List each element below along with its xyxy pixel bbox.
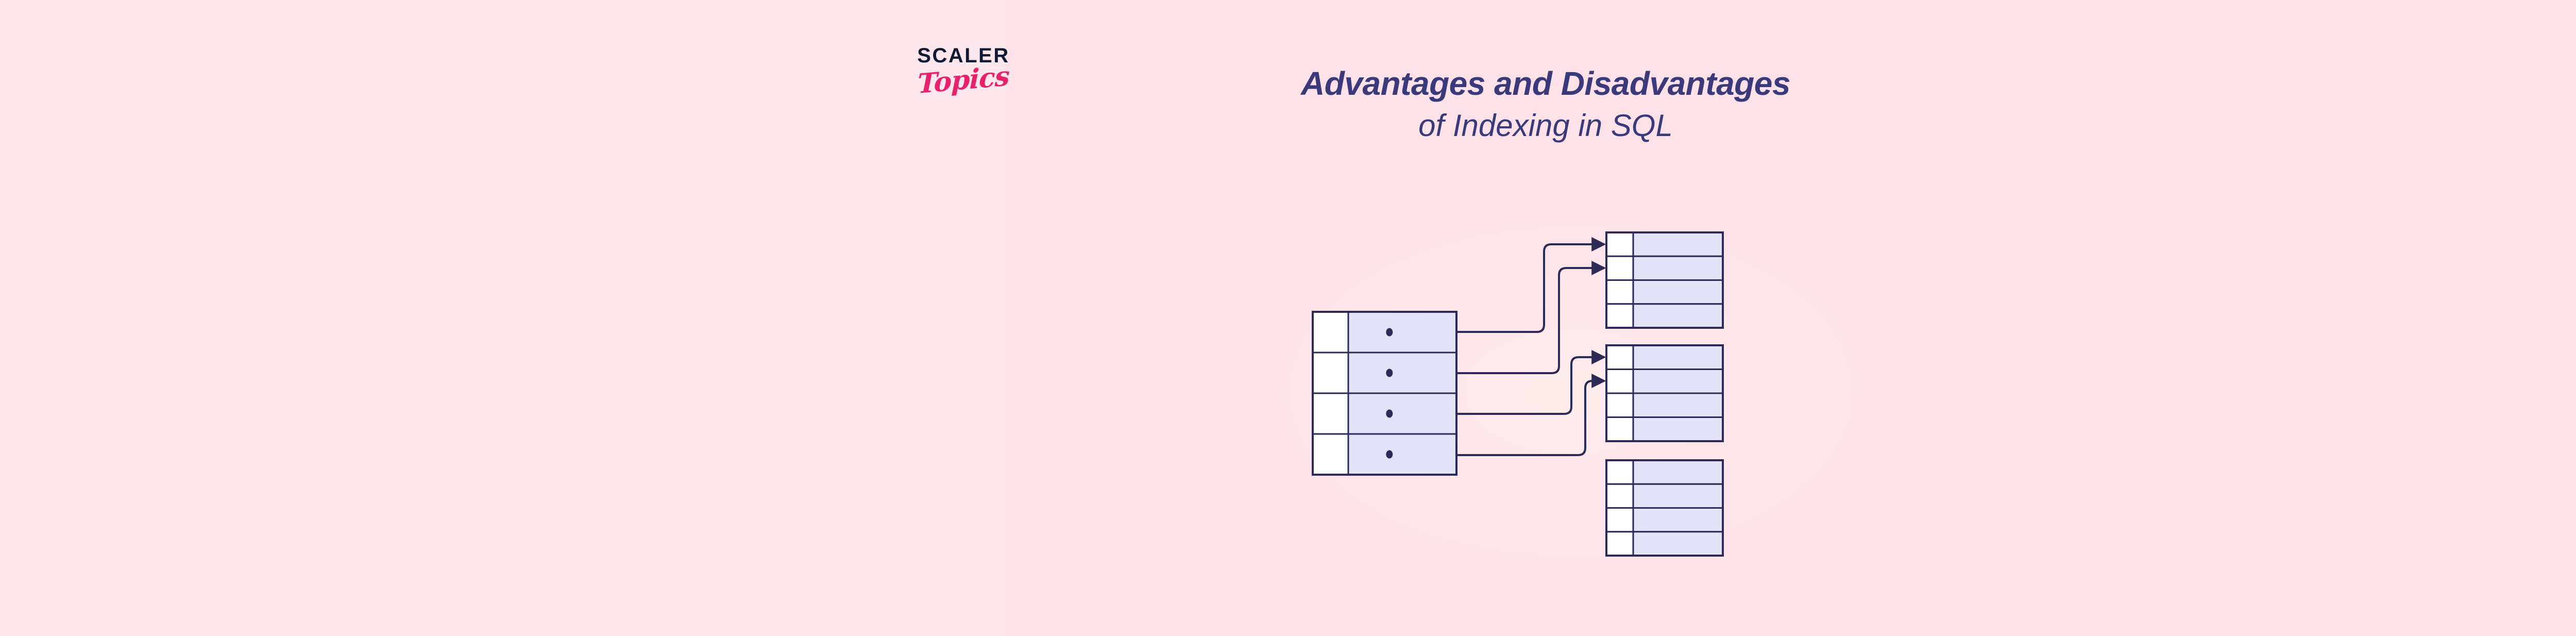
index-table-row-2-pointer-dot <box>1386 369 1393 377</box>
data-table-3-row-1-key-cell[interactable] <box>1606 460 1633 484</box>
data-table-2-row-1-value-cell[interactable] <box>1633 345 1723 370</box>
data-table-1-row-2-value-cell[interactable] <box>1633 256 1723 280</box>
index-table-row-3-value-cell[interactable] <box>1348 393 1456 434</box>
data-table-1-row-1-key-cell[interactable] <box>1606 232 1633 256</box>
index-table-row-1-key-cell[interactable] <box>1313 312 1348 353</box>
data-table-1-row-3-value-cell[interactable] <box>1633 280 1723 304</box>
page-title-line-1: Advantages and Disadvantages <box>1133 67 1958 100</box>
data-table-2-row-4-key-cell[interactable] <box>1606 417 1633 442</box>
index-table[interactable] <box>1313 312 1456 475</box>
data-table-3-row-3-key-cell[interactable] <box>1606 508 1633 532</box>
index-table-row-4-pointer-dot <box>1386 450 1393 459</box>
data-table-1-row-4-value-cell[interactable] <box>1633 304 1723 328</box>
data-table-1-row-3-key-cell[interactable] <box>1606 280 1633 304</box>
index-table-row-1-value-cell[interactable] <box>1348 312 1456 353</box>
data-table-3-row-3-value-cell[interactable] <box>1633 508 1723 532</box>
page-canvas: SCALER Topics Advantages and Disadvantag… <box>0 0 2576 636</box>
index-table-row-3-pointer-dot <box>1386 410 1393 418</box>
index-table-row-4-value-cell[interactable] <box>1348 434 1456 475</box>
data-table-3-row-2-key-cell[interactable] <box>1606 484 1633 508</box>
data-table-3-row-4-value-cell[interactable] <box>1633 532 1723 556</box>
data-table-1[interactable] <box>1606 232 1723 328</box>
data-table-2-row-2-key-cell[interactable] <box>1606 370 1633 394</box>
data-table-3-row-4-key-cell[interactable] <box>1606 532 1633 556</box>
index-table-row-2-key-cell[interactable] <box>1313 353 1348 393</box>
data-table-3-row-1-value-cell[interactable] <box>1633 460 1723 484</box>
data-table-2-row-4-value-cell[interactable] <box>1633 417 1723 442</box>
data-table-1-row-4-key-cell[interactable] <box>1606 304 1633 328</box>
data-table-2[interactable] <box>1606 345 1723 441</box>
index-table-row-1-pointer-dot <box>1386 328 1393 337</box>
data-table-2-row-3-value-cell[interactable] <box>1633 393 1723 417</box>
data-table-1-row-2-key-cell[interactable] <box>1606 256 1633 280</box>
page-title: Advantages and Disadvantages of Indexing… <box>1133 67 1958 141</box>
index-table-row-4-key-cell[interactable] <box>1313 434 1348 475</box>
data-table-3[interactable] <box>1606 460 1723 556</box>
data-table-1-row-1-value-cell[interactable] <box>1633 232 1723 256</box>
data-table-3-row-2-value-cell[interactable] <box>1633 484 1723 508</box>
data-table-2-row-2-value-cell[interactable] <box>1633 370 1723 394</box>
page-title-line-2: of Indexing in SQL <box>1133 110 1958 141</box>
data-table-2-row-3-key-cell[interactable] <box>1606 393 1633 417</box>
data-table-2-row-1-key-cell[interactable] <box>1606 345 1633 370</box>
index-table-row-2-value-cell[interactable] <box>1348 353 1456 393</box>
background-band-left <box>0 0 1006 636</box>
index-table-row-3-key-cell[interactable] <box>1313 393 1348 434</box>
scaler-topics-logo[interactable]: SCALER Topics <box>878 45 1048 133</box>
